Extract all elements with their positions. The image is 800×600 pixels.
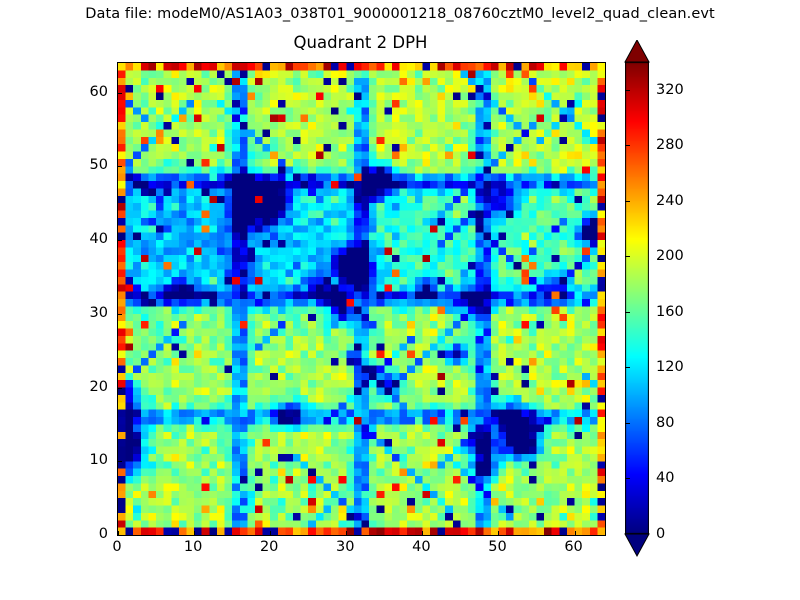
- y-tick-label: 50: [0, 157, 108, 173]
- y-tick: [118, 388, 122, 389]
- colorbar-tick-label: 40: [656, 470, 674, 486]
- x-tick: [346, 531, 347, 535]
- colorbar-tick-label: 160: [656, 304, 684, 320]
- x-tick: [270, 531, 271, 535]
- colorbar-tick: [625, 256, 630, 257]
- colorbar-tick: [625, 145, 630, 146]
- matplotlib-figure: Data file: modeM0/AS1A03_038T01_90000012…: [0, 0, 800, 600]
- x-tick-label: 0: [112, 539, 121, 555]
- colorbar-tick-label: 0: [656, 526, 665, 542]
- colorbar-tick-label: 80: [656, 415, 674, 431]
- figure-suptitle: Data file: modeM0/AS1A03_038T01_90000012…: [0, 6, 800, 22]
- y-tick-label: 10: [0, 452, 108, 468]
- x-tick: [498, 531, 499, 535]
- y-tick: [118, 93, 122, 94]
- colorbar-tick-label: 280: [656, 137, 684, 153]
- colorbar-tick-label: 320: [656, 82, 684, 98]
- x-tick-label: 50: [488, 539, 506, 555]
- colorbar-tick: [625, 367, 630, 368]
- colorbar-tick: [625, 423, 630, 424]
- y-tick: [118, 240, 122, 241]
- x-tick: [194, 531, 195, 535]
- colorbar-tick-label: 200: [656, 248, 684, 264]
- y-tick: [118, 461, 122, 462]
- colorbar-tick-label: 120: [656, 359, 684, 375]
- y-tick: [118, 535, 122, 536]
- y-tick: [118, 166, 122, 167]
- dph-heatmap-image: [118, 63, 605, 535]
- y-tick-label: 0: [0, 526, 108, 542]
- y-tick-label: 40: [0, 231, 108, 247]
- x-tick-label: 30: [336, 539, 354, 555]
- x-tick-label: 10: [184, 539, 202, 555]
- colorbar-tick: [625, 90, 630, 91]
- y-tick: [118, 314, 122, 315]
- axes-title: Quadrant 2 DPH: [0, 33, 721, 52]
- x-tick: [575, 531, 576, 535]
- colorbar-tick: [625, 534, 630, 535]
- y-tick-label: 60: [0, 84, 108, 100]
- colorbar-gradient: [625, 62, 649, 534]
- colorbar-tick: [625, 312, 630, 313]
- colorbar-tick: [625, 478, 630, 479]
- x-tick-label: 60: [564, 539, 582, 555]
- y-tick-label: 30: [0, 305, 108, 321]
- y-tick-label: 20: [0, 379, 108, 395]
- colorbar-tick: [625, 201, 630, 202]
- colorbar-extend-triangle: [625, 534, 649, 556]
- x-tick-label: 20: [260, 539, 278, 555]
- heatmap-axes: [117, 62, 606, 536]
- x-tick-label: 40: [412, 539, 430, 555]
- colorbar-tick-label: 240: [656, 193, 684, 209]
- colorbar: [625, 62, 649, 534]
- x-tick: [422, 531, 423, 535]
